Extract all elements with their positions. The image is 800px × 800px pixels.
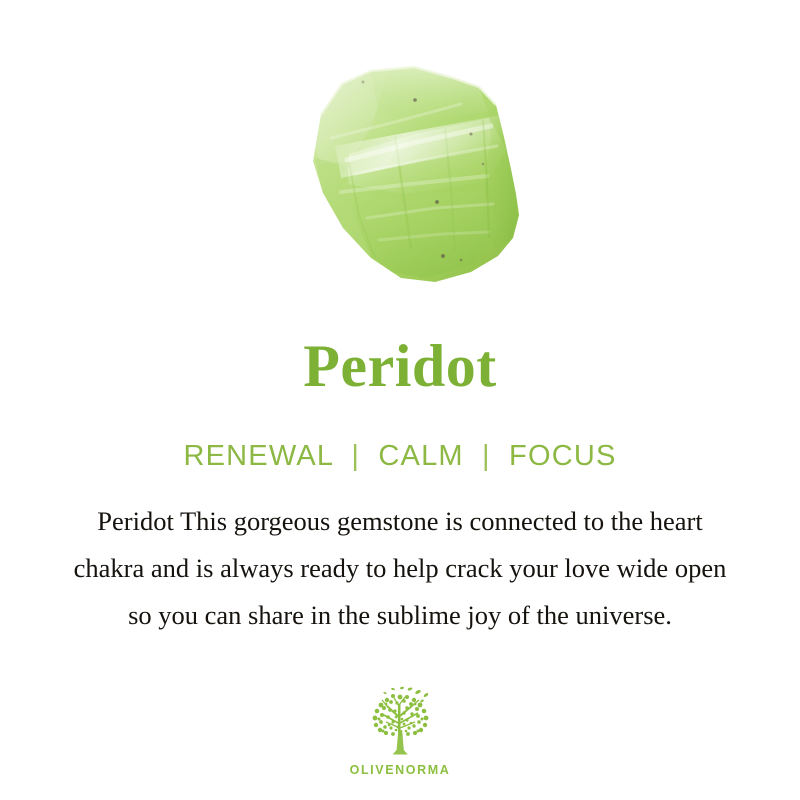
keyword-separator: | [342,440,369,472]
keyword-list: RENEWAL | CALM | FOCUS [0,442,800,471]
keyword-calm: CALM [378,440,463,472]
page-title: Peridot [0,336,800,396]
product-description: Peridot This gorgeous gemstone is connec… [22,498,778,639]
description-line: chakra and is always ready to help crack… [22,545,778,592]
keyword-focus: FOCUS [509,440,617,472]
brand-name: OLIVENORMA [350,764,451,777]
brand-logo: OLIVENORMA [0,684,800,777]
gemstone-image [0,28,800,318]
description-line: so you can share in the sublime joy of t… [22,592,778,639]
product-info-card: Peridot RENEWAL | CALM | FOCUS Peridot T… [0,0,800,800]
keyword-separator: | [473,440,500,472]
description-line: Peridot This gorgeous gemstone is connec… [22,498,778,545]
keyword-renewal: RENEWAL [183,440,333,472]
raw-peridot-gemstone-icon [275,42,525,304]
olive-tree-icon [360,684,440,762]
